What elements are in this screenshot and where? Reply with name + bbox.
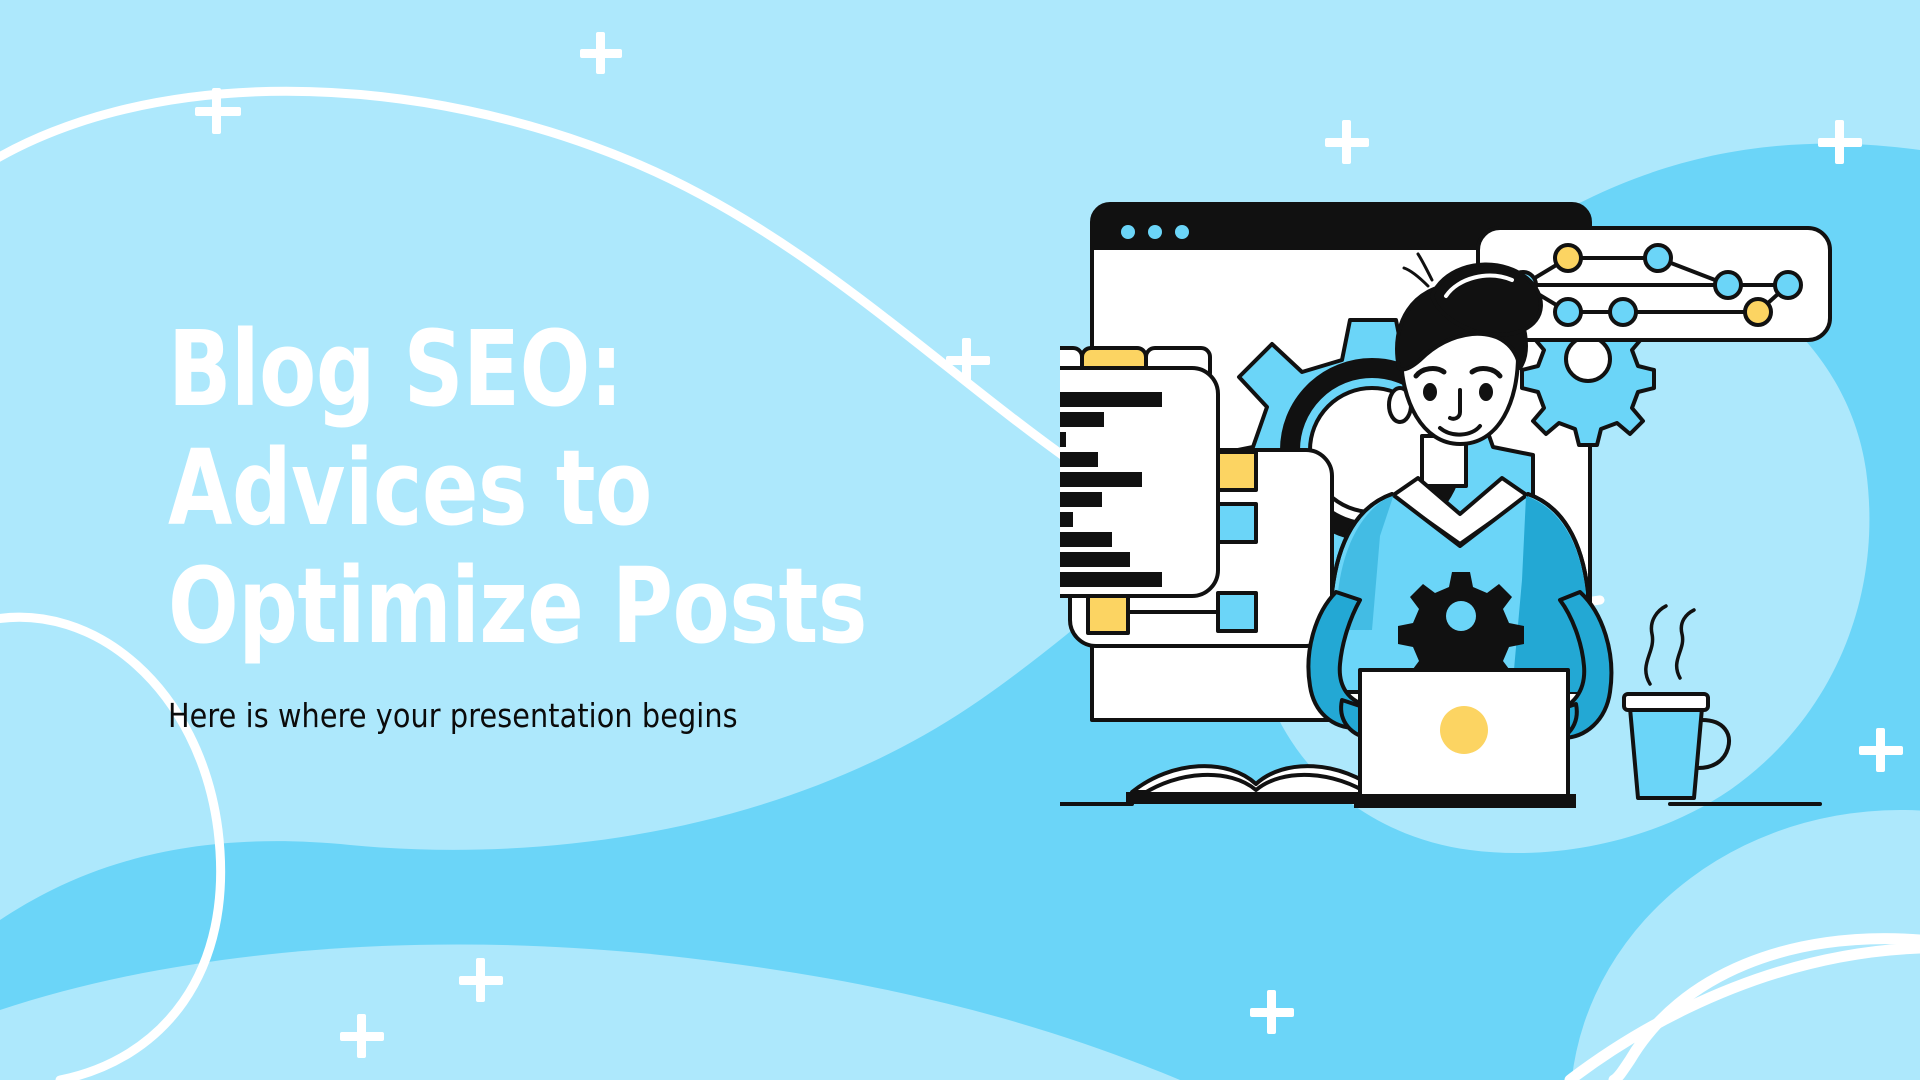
laptop-logo [1440, 706, 1488, 754]
network-node [1610, 299, 1636, 325]
network-node [1775, 272, 1801, 298]
browser-dot [1148, 225, 1162, 239]
flow-node [1218, 593, 1256, 631]
coffee-mug-illustration [1624, 606, 1729, 798]
network-node [1745, 299, 1771, 325]
slide-text-block: Blog SEO: Advices to Optimize Posts Here… [168, 310, 1068, 735]
network-node [1555, 245, 1581, 271]
eye [1423, 383, 1437, 401]
laptop-illustration [1354, 670, 1576, 808]
flow-node [1218, 452, 1256, 490]
network-node [1715, 272, 1741, 298]
network-node [1645, 245, 1671, 271]
flow-node [1088, 593, 1128, 633]
browser-dot [1121, 225, 1135, 239]
steam-icon [1646, 606, 1694, 684]
network-node [1555, 299, 1581, 325]
browser-dot [1175, 225, 1189, 239]
presentation-slide: Blog SEO: Advices to Optimize Posts Here… [0, 0, 1920, 1080]
book-illustration [1126, 766, 1384, 804]
document-panel [1060, 348, 1218, 596]
slide-subtitle: Here is where your presentation begins [168, 696, 951, 735]
seo-illustration [1060, 200, 1860, 880]
page-title: Blog SEO: Advices to Optimize Posts [168, 310, 888, 666]
eye [1479, 383, 1493, 401]
flow-node [1218, 504, 1256, 542]
